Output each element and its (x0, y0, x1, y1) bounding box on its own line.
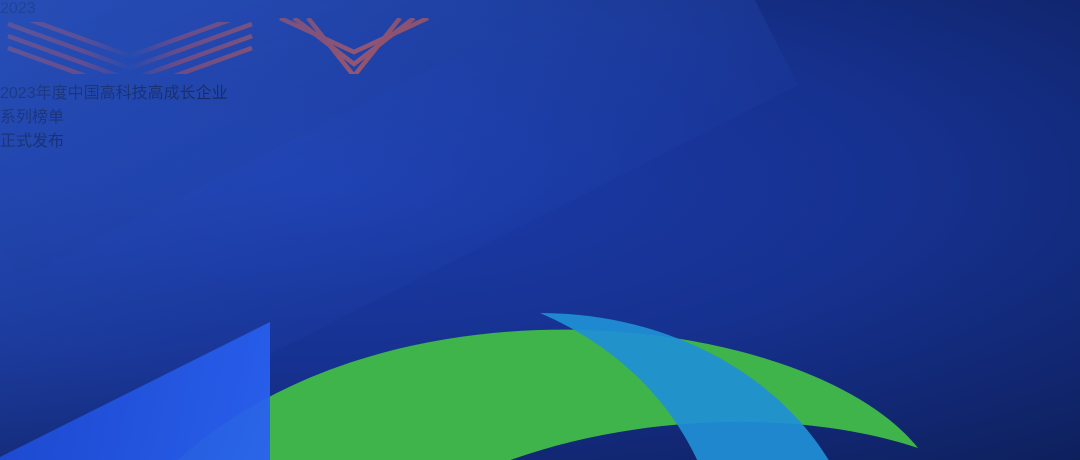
year-watermark: 2023 (0, 0, 1080, 18)
release-cta-label: 正式发布 (0, 133, 64, 150)
headline-line-1: 2023年度中国高科技高成长企业 (0, 79, 1080, 103)
chevron-decoration-group (0, 18, 1080, 79)
promo-banner: 2023 (0, 0, 1080, 460)
headline-block: 2023年度中国高科技高成长企业 系列榜单 (0, 79, 1080, 127)
swirl-ribbon-logo-icon (0, 151, 1080, 460)
headline-line-2: 系列榜单 (0, 103, 1080, 127)
chevron-top-icon (0, 22, 260, 74)
logo-group: 第一新声 — THE FIRST NEW VOICE — 天眼查® TianYa… (0, 151, 1080, 460)
release-cta-button[interactable]: 正式发布 (0, 127, 1080, 151)
brand-logo-diyixinsheng[interactable]: 第一新声 — THE FIRST NEW VOICE — (0, 151, 1080, 460)
chevron-bottom-icon (264, 18, 444, 74)
